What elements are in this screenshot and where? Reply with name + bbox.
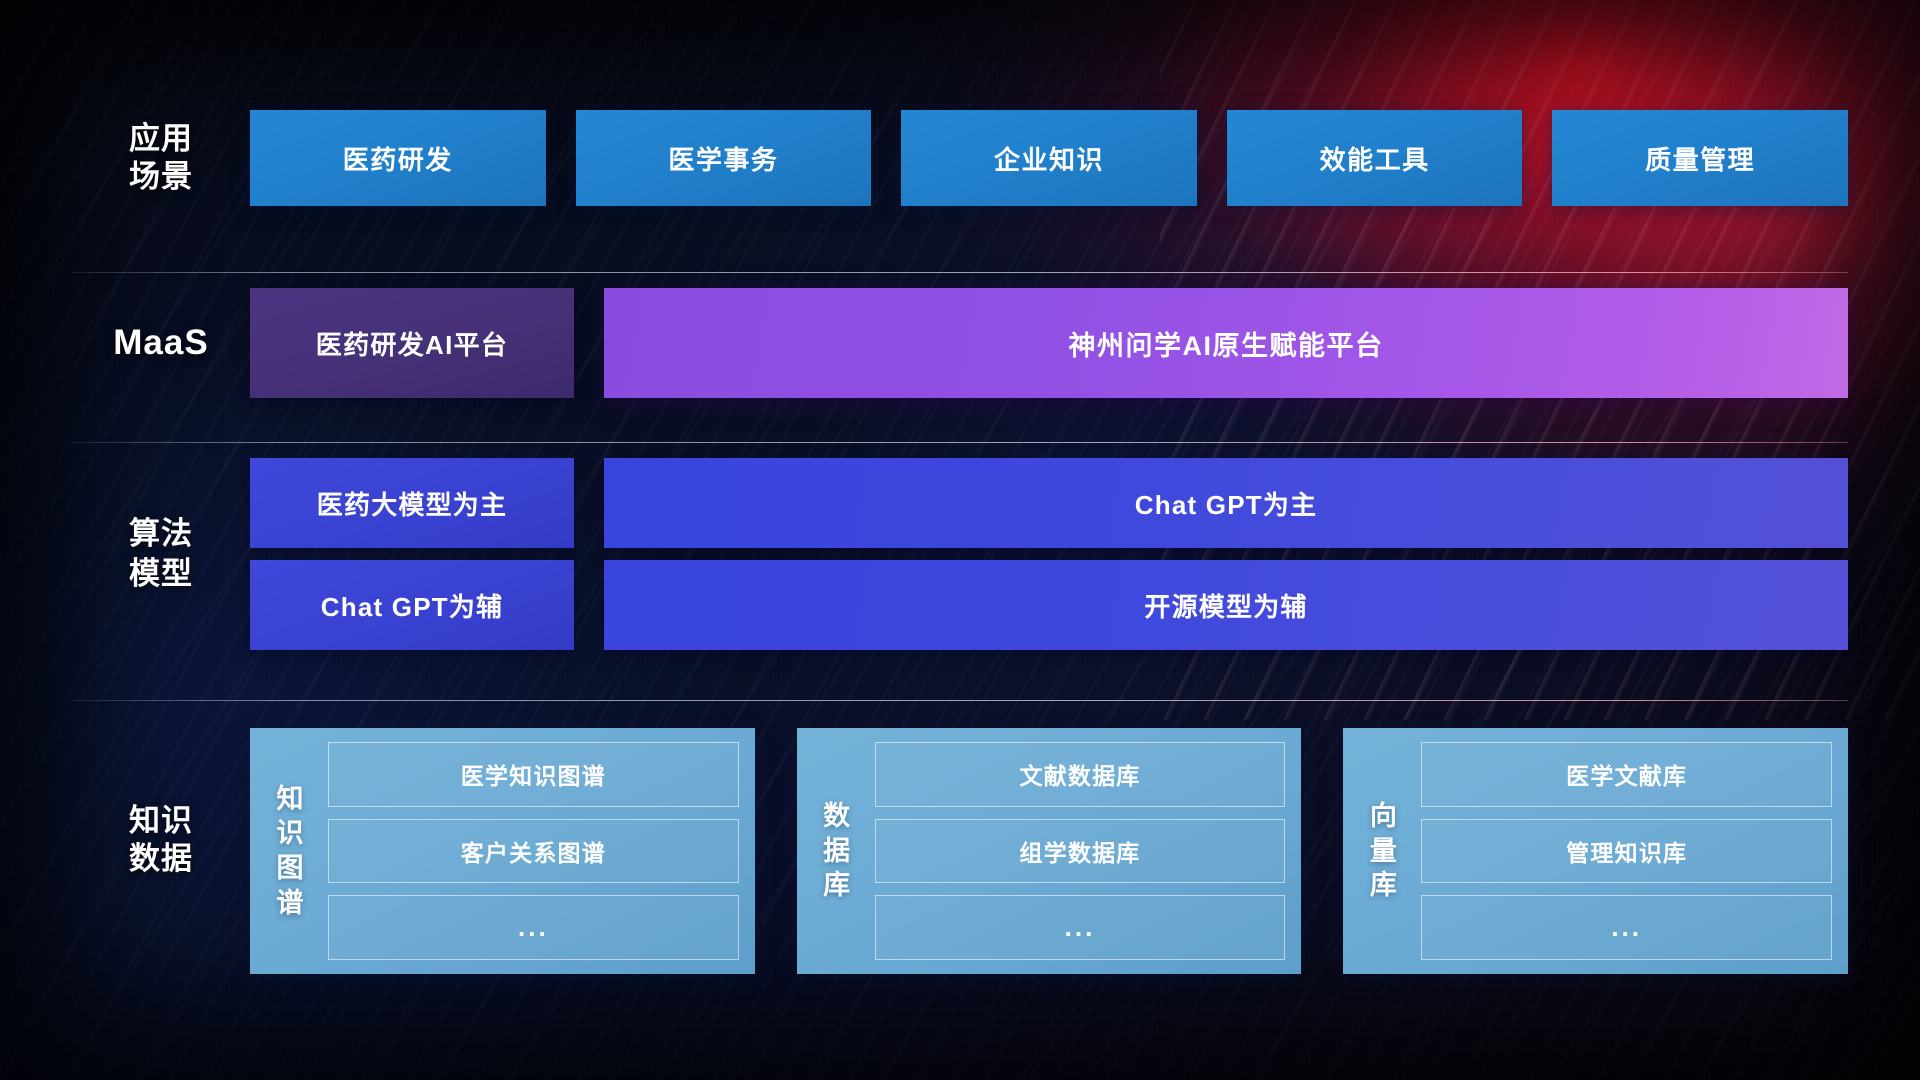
algorithm-line-secondary: Chat GPT为辅 开源模型为辅 (250, 560, 1848, 650)
knowledge-items-list: 文献数据库 组学数据库 ... (875, 742, 1286, 960)
knowledge-item-label: ... (1065, 912, 1096, 943)
knowledge-item-customer-relation-graph[interactable]: 客户关系图谱 (328, 819, 739, 884)
knowledge-items-list: 医学文献库 管理知识库 ... (1421, 742, 1832, 960)
knowledge-item-label: 文献数据库 (1020, 757, 1141, 791)
app-card-efficiency-tools[interactable]: 效能工具 (1227, 110, 1523, 206)
app-card-label: 医学事务 (668, 140, 778, 177)
knowledge-item-medical-knowledge-graph[interactable]: 医学知识图谱 (328, 742, 739, 807)
algo-card-pharma-llm-primary[interactable]: 医药大模型为主 (250, 458, 574, 548)
app-card-quality-management[interactable]: 质量管理 (1552, 110, 1848, 206)
architecture-diagram: 应用 场景 医药研发 医学事务 企业知识 效能工具 质量管理 (0, 0, 1920, 1080)
app-card-label: 企业知识 (994, 140, 1104, 177)
algo-card-chatgpt-secondary[interactable]: Chat GPT为辅 (250, 560, 574, 650)
knowledge-group-vertical-label: 向量库 (1357, 742, 1409, 960)
knowledge-group-vector-store[interactable]: 向量库 医学文献库 管理知识库 ... (1343, 728, 1848, 974)
app-card-label: 质量管理 (1645, 140, 1755, 177)
algo-card-chatgpt-primary[interactable]: Chat GPT为主 (604, 458, 1848, 548)
row-label-algorithm-models: 算法 模型 (72, 514, 250, 595)
knowledge-item-label: 管理知识库 (1566, 834, 1687, 868)
divider-algorithms-knowledge (72, 700, 1848, 701)
knowledge-item-more[interactable]: ... (875, 895, 1286, 960)
row-knowledge-data: 知识 数据 知识图谱 医学知识图谱 客户关系图谱 ... (72, 728, 1848, 974)
knowledge-item-label: 客户关系图谱 (461, 834, 606, 868)
algorithm-line-primary: 医药大模型为主 Chat GPT为主 (250, 458, 1848, 548)
maas-card-shenzhou-wenxue-platform[interactable]: 神州问学AI原生赋能平台 (604, 288, 1848, 398)
knowledge-groups-container: 知识图谱 医学知识图谱 客户关系图谱 ... 数据库 (250, 728, 1848, 974)
maas-card-drug-rd-ai-platform[interactable]: 医药研发AI平台 (250, 288, 574, 398)
app-card-label: 效能工具 (1320, 140, 1430, 177)
knowledge-item-label: 组学数据库 (1020, 834, 1141, 868)
knowledge-item-more[interactable]: ... (328, 895, 739, 960)
row-label-application-scenarios: 应用 场景 (72, 120, 250, 196)
knowledge-item-label: 医学文献库 (1566, 757, 1687, 791)
knowledge-item-label: 医学知识图谱 (461, 757, 606, 791)
diagram-canvas: 应用 场景 医药研发 医学事务 企业知识 效能工具 质量管理 (0, 0, 1920, 1080)
knowledge-item-label: ... (518, 912, 549, 943)
knowledge-group-vertical-label: 知识图谱 (264, 742, 316, 960)
knowledge-item-more[interactable]: ... (1421, 895, 1832, 960)
algo-card-label: 开源模型为辅 (1144, 587, 1307, 624)
divider-applications-maas (72, 272, 1848, 273)
algo-card-opensource-secondary[interactable]: 开源模型为辅 (604, 560, 1848, 650)
maas-card-label: 神州问学AI原生赋能平台 (1069, 324, 1384, 363)
application-cards-container: 医药研发 医学事务 企业知识 效能工具 质量管理 (250, 110, 1848, 206)
algo-card-label: Chat GPT为主 (1135, 485, 1317, 522)
divider-maas-algorithms (72, 442, 1848, 443)
app-card-label: 医药研发 (343, 140, 453, 177)
knowledge-item-omics-database[interactable]: 组学数据库 (875, 819, 1286, 884)
row-application-scenarios: 应用 场景 医药研发 医学事务 企业知识 效能工具 质量管理 (72, 110, 1848, 206)
app-card-medical-affairs[interactable]: 医学事务 (576, 110, 872, 206)
maas-cards-container: 医药研发AI平台 神州问学AI原生赋能平台 (250, 288, 1848, 398)
knowledge-group-vertical-label: 数据库 (811, 742, 863, 960)
algorithm-lines-container: 医药大模型为主 Chat GPT为主 Chat GPT为辅 开源模型为辅 (250, 458, 1848, 650)
knowledge-group-database[interactable]: 数据库 文献数据库 组学数据库 ... (797, 728, 1302, 974)
knowledge-item-management-knowledge-store[interactable]: 管理知识库 (1421, 819, 1832, 884)
knowledge-item-medical-literature-store[interactable]: 医学文献库 (1421, 742, 1832, 807)
knowledge-item-literature-database[interactable]: 文献数据库 (875, 742, 1286, 807)
row-algorithm-models: 算法 模型 医药大模型为主 Chat GPT为主 Chat GPT为辅 开源模型… (72, 458, 1848, 650)
row-label-maas: MaaS (72, 322, 250, 365)
knowledge-items-list: 医学知识图谱 客户关系图谱 ... (328, 742, 739, 960)
algo-card-label: Chat GPT为辅 (321, 587, 503, 624)
row-label-knowledge-data: 知识 数据 (72, 728, 250, 878)
knowledge-item-label: ... (1611, 912, 1642, 943)
app-card-drug-rd[interactable]: 医药研发 (250, 110, 546, 206)
algo-card-label: 医药大模型为主 (317, 485, 507, 522)
row-maas: MaaS 医药研发AI平台 神州问学AI原生赋能平台 (72, 288, 1848, 398)
maas-card-label: 医药研发AI平台 (316, 325, 508, 362)
app-card-enterprise-knowledge[interactable]: 企业知识 (901, 110, 1197, 206)
knowledge-group-knowledge-graph[interactable]: 知识图谱 医学知识图谱 客户关系图谱 ... (250, 728, 755, 974)
